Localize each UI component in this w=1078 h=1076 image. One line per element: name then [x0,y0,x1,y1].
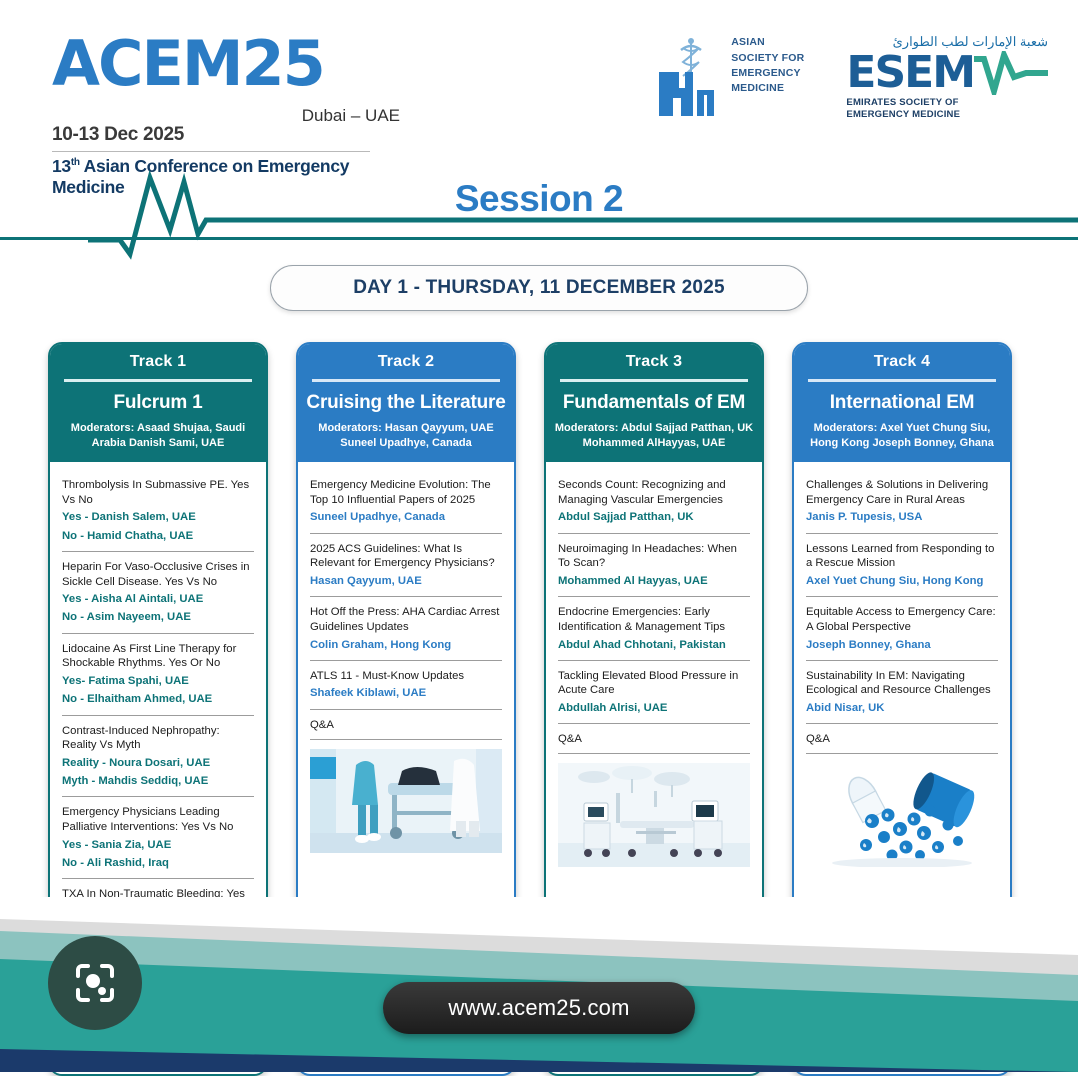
session-speaker: Myth - Mahdis Seddiq, UAE [62,774,254,789]
esem-sub-line-2: EMERGENCY MEDICINE [846,109,1048,121]
track-moderators: Moderators: Axel Yuet Chung Siu, Hong Ko… [802,421,1002,450]
session-title-text: Emergency Medicine Evolution: The Top 10… [310,478,502,507]
session-speaker: Colin Graham, Hong Kong [310,638,502,653]
session-item: Endocrine Emergencies: Early Identificat… [558,597,750,661]
session-qa: Q&A [558,724,750,754]
track-name: Fundamentals of EM [554,392,754,414]
page-header: ACEM25 Dubai – UAE 10-13 Dec 2025 13th A… [0,0,1078,175]
logo-dates: 10-13 Dec 2025 [52,124,382,146]
track-header-divider [808,379,996,382]
section-divider [0,237,1078,240]
session-speaker: No - Elhaitham Ahmed, UAE [62,692,254,707]
session-item: Thrombolysis In Submassive PE. Yes Vs No… [62,470,254,552]
asem-line-4: MEDICINE [731,81,804,96]
page-footer: www.acem25.com [0,897,1078,1072]
track-name: Fulcrum 1 [58,392,258,414]
session-speaker: Joseph Bonney, Ghana [806,638,998,653]
session-speaker: Yes - Danish Salem, UAE [62,510,254,525]
session-title-text: Lidocaine As First Line Therapy for Shoc… [62,642,254,671]
track-name: Cruising the Literature [306,392,506,414]
session-speaker: Reality - Noura Dosari, UAE [62,756,254,771]
session-speaker: No - Asim Nayeem, UAE [62,610,254,625]
asem-logo-text: ASIAN SOCIETY FOR EMERGENCY MEDICINE [731,35,804,120]
session-speaker: Suneel Upadhye, Canada [310,510,502,525]
google-lens-icon [72,960,118,1006]
esem-heartbeat-icon [974,51,1048,95]
session-title-text: Heparin For Vaso-Occlusive Crises in Sic… [62,560,254,589]
asem-logo: ASIAN SOCIETY FOR EMERGENCY MEDICINE [647,35,804,120]
track-label: Track 4 [802,353,1002,371]
session-title: Session 2 [0,178,1078,220]
asem-line-1: ASIAN [731,35,804,50]
logo-location: Dubai – UAE [302,106,400,126]
session-item: Heparin For Vaso-Occlusive Crises in Sic… [62,552,254,634]
track-moderators: Moderators: Hasan Qayyum, UAE Suneel Upa… [306,421,506,450]
session-item: Contrast-Induced Nephropathy: Reality Vs… [62,716,254,798]
track-sessions: Emergency Medicine Evolution: The Top 10… [298,462,514,853]
operating-theatre-photo [558,763,750,867]
website-url-pill[interactable]: www.acem25.com [383,982,695,1034]
track-moderators: Moderators: Asaad Shujaa, Saudi Arabia D… [58,421,258,450]
session-item: Equitable Access to Emergency Care: A Gl… [806,597,998,661]
esem-logo-text: ESEM [846,51,974,95]
track-sessions: Challenges & Solutions in Delivering Eme… [794,462,1010,867]
acem-logo-text: ACEM25 [52,27,324,100]
session-title-text: Challenges & Solutions in Delivering Eme… [806,478,998,507]
track-header: Track 3 Fundamentals of EM Moderators: A… [546,344,762,462]
session-item: Neuroimaging In Headaches: When To Scan?… [558,534,750,598]
hospital-gurney-photo [310,749,502,853]
track-header-divider [64,379,252,382]
track-header: Track 4 International EM Moderators: Axe… [794,344,1010,462]
globe-pills-photo [806,763,998,867]
google-lens-button[interactable] [48,936,142,1030]
session-title-text: Endocrine Emergencies: Early Identificat… [558,605,750,634]
session-title-text: Equitable Access to Emergency Care: A Gl… [806,605,998,634]
session-title-text: Emergency Physicians Leading Palliative … [62,805,254,834]
session-qa: Q&A [806,724,998,754]
session-qa: Q&A [310,710,502,740]
session-item: Tackling Elevated Blood Pressure in Acut… [558,661,750,725]
asem-line-2: SOCIETY FOR [731,51,804,66]
session-speaker: Yes - Sania Zia, UAE [62,838,254,853]
session-speaker: Janis P. Tupesis, USA [806,510,998,525]
esem-wordmark: ESEM [846,51,1048,95]
asem-caduceus-icon [647,38,725,120]
track-name: International EM [802,392,1002,414]
session-title-text: Neuroimaging In Headaches: When To Scan? [558,542,750,571]
day-banner: DAY 1 - THURSDAY, 11 DECEMBER 2025 [270,265,808,311]
session-title-text: Sustainability In EM: Navigating Ecologi… [806,669,998,698]
track-label: Track 3 [554,353,754,371]
session-title-text: Contrast-Induced Nephropathy: Reality Vs… [62,724,254,753]
track-header: Track 1 Fulcrum 1 Moderators: Asaad Shuj… [50,344,266,462]
esem-subtitle: EMIRATES SOCIETY OF EMERGENCY MEDICINE [846,97,1048,122]
session-item: Hot Off the Press: AHA Cardiac Arrest Gu… [310,597,502,661]
session-speaker: Shafeek Kiblawi, UAE [310,686,502,701]
logo-divider [52,151,370,152]
session-speaker: No - Ali Rashid, Iraq [62,856,254,871]
session-speaker: Abdul Sajjad Patthan, UK [558,510,750,525]
session-speaker: No - Hamid Chatha, UAE [62,529,254,544]
session-title-text: Hot Off the Press: AHA Cardiac Arrest Gu… [310,605,502,634]
society-logos: ASIAN SOCIETY FOR EMERGENCY MEDICINE شعب… [647,34,1048,122]
session-speaker: Yes - Aisha Al Aintali, UAE [62,592,254,607]
track-header: Track 2 Cruising the Literature Moderato… [298,344,514,462]
session-item: Challenges & Solutions in Delivering Eme… [806,470,998,534]
track-moderators: Moderators: Abdul Sajjad Patthan, UK Moh… [554,421,754,450]
session-speaker: Axel Yuet Chung Siu, Hong Kong [806,574,998,589]
session-title-text: 2025 ACS Guidelines: What Is Relevant fo… [310,542,502,571]
asem-line-3: EMERGENCY [731,66,804,81]
session-item: Emergency Physicians Leading Palliative … [62,797,254,879]
esem-logo: شعبة الإمارات لطب الطوارئ ESEM EMIRATES … [846,34,1048,122]
session-item: Lidocaine As First Line Therapy for Shoc… [62,634,254,716]
session-speaker: Abid Nisar, UK [806,701,998,716]
session-item: Emergency Medicine Evolution: The Top 10… [310,470,502,534]
session-speaker: Mohammed Al Hayyas, UAE [558,574,750,589]
session-title-text: Tackling Elevated Blood Pressure in Acut… [558,669,750,698]
acem-wordmark: ACEM25 Dubai – UAE [52,28,382,100]
session-title-text: ATLS 11 - Must-Know Updates [310,669,502,684]
track-header-divider [560,379,748,382]
session-speaker: Yes- Fatima Spahi, UAE [62,674,254,689]
track-sessions: Seconds Count: Recognizing and Managing … [546,462,762,867]
track-label: Track 2 [306,353,506,371]
session-speaker: Abdullah Alrisi, UAE [558,701,750,716]
session-item: Lessons Learned from Responding to a Res… [806,534,998,598]
session-speaker: Hasan Qayyum, UAE [310,574,502,589]
session-title-text: Thrombolysis In Submassive PE. Yes Vs No [62,478,254,507]
session-speaker: Abdul Ahad Chhotani, Pakistan [558,638,750,653]
session-title-text: Seconds Count: Recognizing and Managing … [558,478,750,507]
session-title-text: Lessons Learned from Responding to a Res… [806,542,998,571]
session-item: ATLS 11 - Must-Know UpdatesShafeek Kibla… [310,661,502,710]
esem-sub-line-1: EMIRATES SOCIETY OF [846,97,1048,109]
session-item: Sustainability In EM: Navigating Ecologi… [806,661,998,725]
session-item: 2025 ACS Guidelines: What Is Relevant fo… [310,534,502,598]
track-label: Track 1 [58,353,258,371]
track-header-divider [312,379,500,382]
session-item: Seconds Count: Recognizing and Managing … [558,470,750,534]
